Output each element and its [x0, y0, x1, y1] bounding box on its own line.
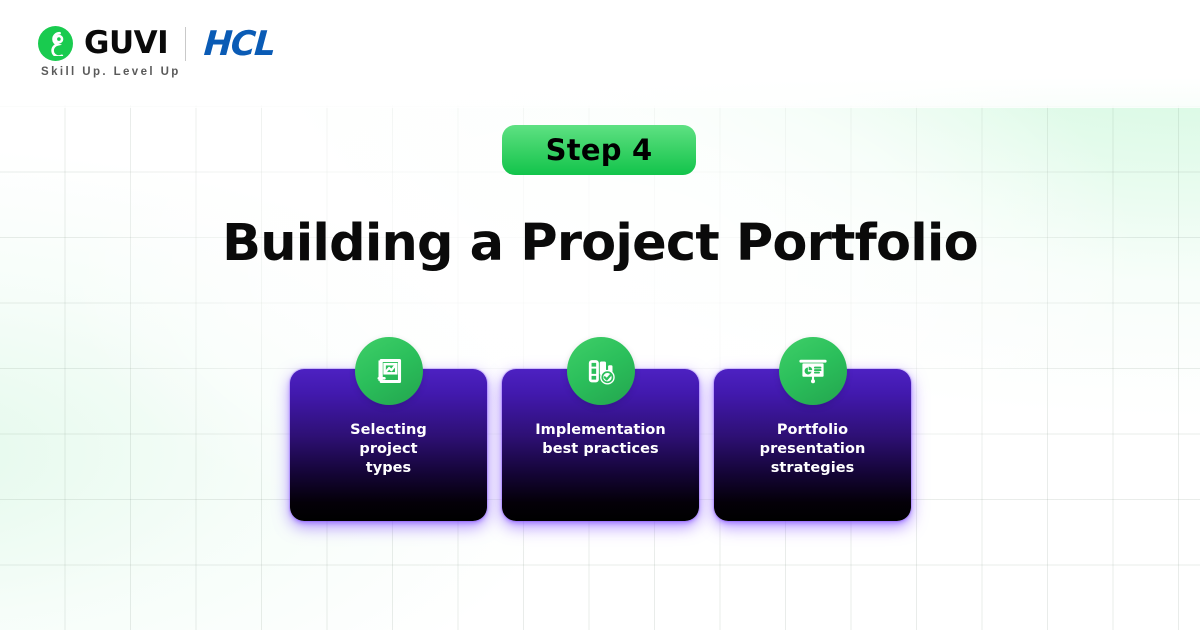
logo-row: GUVI HCL: [38, 26, 275, 61]
feature-card-3-label: Portfolio presentation strategies: [714, 421, 911, 478]
step-badge: Step 4: [502, 125, 696, 175]
card-row: Selecting project types Implementation b…: [0, 0, 1200, 630]
feature-card-2-label: Implementation best practices: [502, 421, 699, 459]
presentation-board-icon: [779, 337, 847, 405]
feature-card-1[interactable]: Selecting project types: [290, 369, 487, 521]
logo-divider: [185, 27, 186, 61]
chart-document-icon: [355, 337, 423, 405]
guvi-g-logo-icon: [38, 26, 73, 61]
step-badge-label: Step 4: [546, 133, 653, 167]
checklist-bars-check-icon: [567, 337, 635, 405]
page-title: Building a Project Portfolio: [0, 214, 1200, 273]
brand-tagline: Skill Up. Level Up: [41, 66, 275, 78]
hcl-wordmark: HCL: [203, 27, 276, 61]
feature-card-1-label: Selecting project types: [290, 421, 487, 478]
guvi-wordmark: GUVI: [84, 28, 168, 59]
slide-canvas: GUVI HCL Skill Up. Level Up Step 4 Build…: [0, 0, 1200, 630]
feature-card-2[interactable]: Implementation best practices: [502, 369, 699, 521]
brand-logo-bar: GUVI HCL Skill Up. Level Up: [38, 26, 275, 78]
feature-card-3[interactable]: Portfolio presentation strategies: [714, 369, 911, 521]
